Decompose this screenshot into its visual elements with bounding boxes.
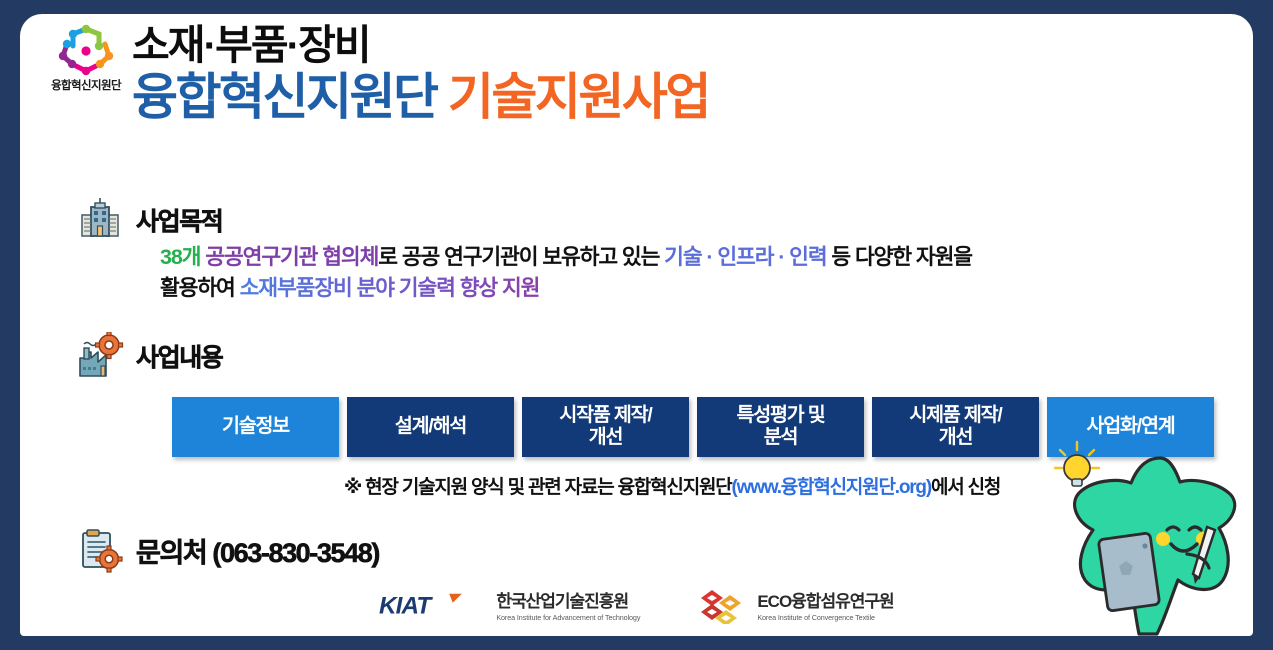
purpose-section-header: 사업목적 — [76, 196, 222, 244]
purpose-resources: 기술 · 인프라 · 인력 — [664, 245, 826, 269]
poster-card: 융합혁신지원단 소재·부품·장비 융합혁신지원단 기술지원사업 — [20, 14, 1253, 636]
poster-root: 융합혁신지원단 소재·부품·장비 융합혁신지원단 기술지원사업 — [0, 0, 1273, 650]
application-url[interactable]: (www.융합혁신지원단.org) — [732, 477, 931, 498]
purpose-line-2: 활용하여 소재부품장비 분야 기술력 향상 지원 — [160, 273, 1230, 304]
purpose-heading: 사업목적 — [136, 202, 222, 238]
poster-header: 융합혁신지원단 소재·부품·장비 융합혁신지원단 기술지원사업 — [20, 14, 1253, 174]
category-box-2[interactable]: 설계/해석 — [347, 397, 514, 457]
lightbulb-icon — [1055, 442, 1099, 486]
eco-chain-logo-icon — [696, 586, 748, 629]
kiat-name-ko: 한국산업기술진흥원 — [496, 593, 640, 612]
purpose-goal: 소재부품장비 분야 기술력 향상 지원 — [240, 276, 540, 300]
category-box-4[interactable]: 특성평가 및분석 — [697, 397, 864, 457]
category-box-1[interactable]: 기술정보 — [172, 397, 339, 457]
category-box-5[interactable]: 시제품 제작/개선 — [872, 397, 1039, 457]
poster-title-line1: 소재·부품·장비 — [132, 24, 709, 67]
contact-section-header: 문의처 (063-830-3548) — [76, 526, 379, 574]
content-section-header: 사업내용 — [76, 332, 222, 380]
title-block: 소재·부품·장비 융합혁신지원단 기술지원사업 — [132, 24, 709, 125]
poster-title-line2: 융합혁신지원단 기술지원사업 — [132, 69, 709, 125]
purpose-text-3: 활용하여 — [160, 276, 240, 300]
contact-heading: 문의처 (063-830-3548) — [136, 531, 379, 570]
factory-gear-icon — [76, 332, 124, 380]
eco-name-en: Korea Institute of Convergence Textile — [757, 614, 893, 622]
purpose-body: 38개 공공연구기관 협의체로 공공 연구기관이 보유하고 있는 기술 · 인프… — [160, 242, 1230, 303]
purpose-text-2: 등 다양한 자원을 — [827, 245, 972, 269]
green-star-mascot-icon — [1047, 438, 1253, 636]
tablet-icon — [1098, 533, 1160, 612]
note-prefix: ※ 현장 기술지원 양식 및 관련 자료는 융합혁신지원단 — [344, 477, 732, 498]
note-suffix: 에서 신청 — [931, 477, 1000, 498]
category-box-3[interactable]: 시작품 제작/개선 — [522, 397, 689, 457]
poster-title-org: 융합혁신지원단 — [132, 69, 437, 125]
brand-logo-caption: 융합혁신지원단 — [36, 77, 136, 93]
application-note: ※ 현장 기술지원 양식 및 관련 자료는 융합혁신지원단(www.융합혁신지원… — [172, 472, 1172, 499]
eco-logo: ECO융합섬유연구원 Korea Institute of Convergenc… — [696, 586, 893, 629]
kiat-name-en: Korea Institute for Advancement of Techn… — [496, 614, 640, 622]
content-heading: 사업내용 — [136, 338, 222, 374]
clipboard-gear-icon — [76, 526, 124, 574]
kiat-wordmark-icon: KIAT — [379, 590, 487, 626]
poster-title-program: 기술지원사업 — [448, 69, 709, 125]
purpose-text-1: 로 공공 연구기관이 보유하고 있는 — [378, 245, 664, 269]
brand-logo: 융합혁신지원단 — [36, 22, 136, 100]
kiat-logo: KIAT 한국산업기술진흥원 Korea Institute for Advan… — [379, 590, 640, 626]
svg-text:KIAT: KIAT — [379, 592, 433, 619]
purpose-council: 공공연구기관 협의체 — [205, 245, 378, 269]
pinwheel-network-logo-icon — [55, 22, 117, 76]
purpose-count: 38개 — [160, 245, 205, 269]
eco-name-ko: ECO융합섬유연구원 — [757, 593, 893, 612]
purpose-line-1: 38개 공공연구기관 협의체로 공공 연구기관이 보유하고 있는 기술 · 인프… — [160, 242, 1230, 273]
building-icon — [76, 196, 124, 244]
